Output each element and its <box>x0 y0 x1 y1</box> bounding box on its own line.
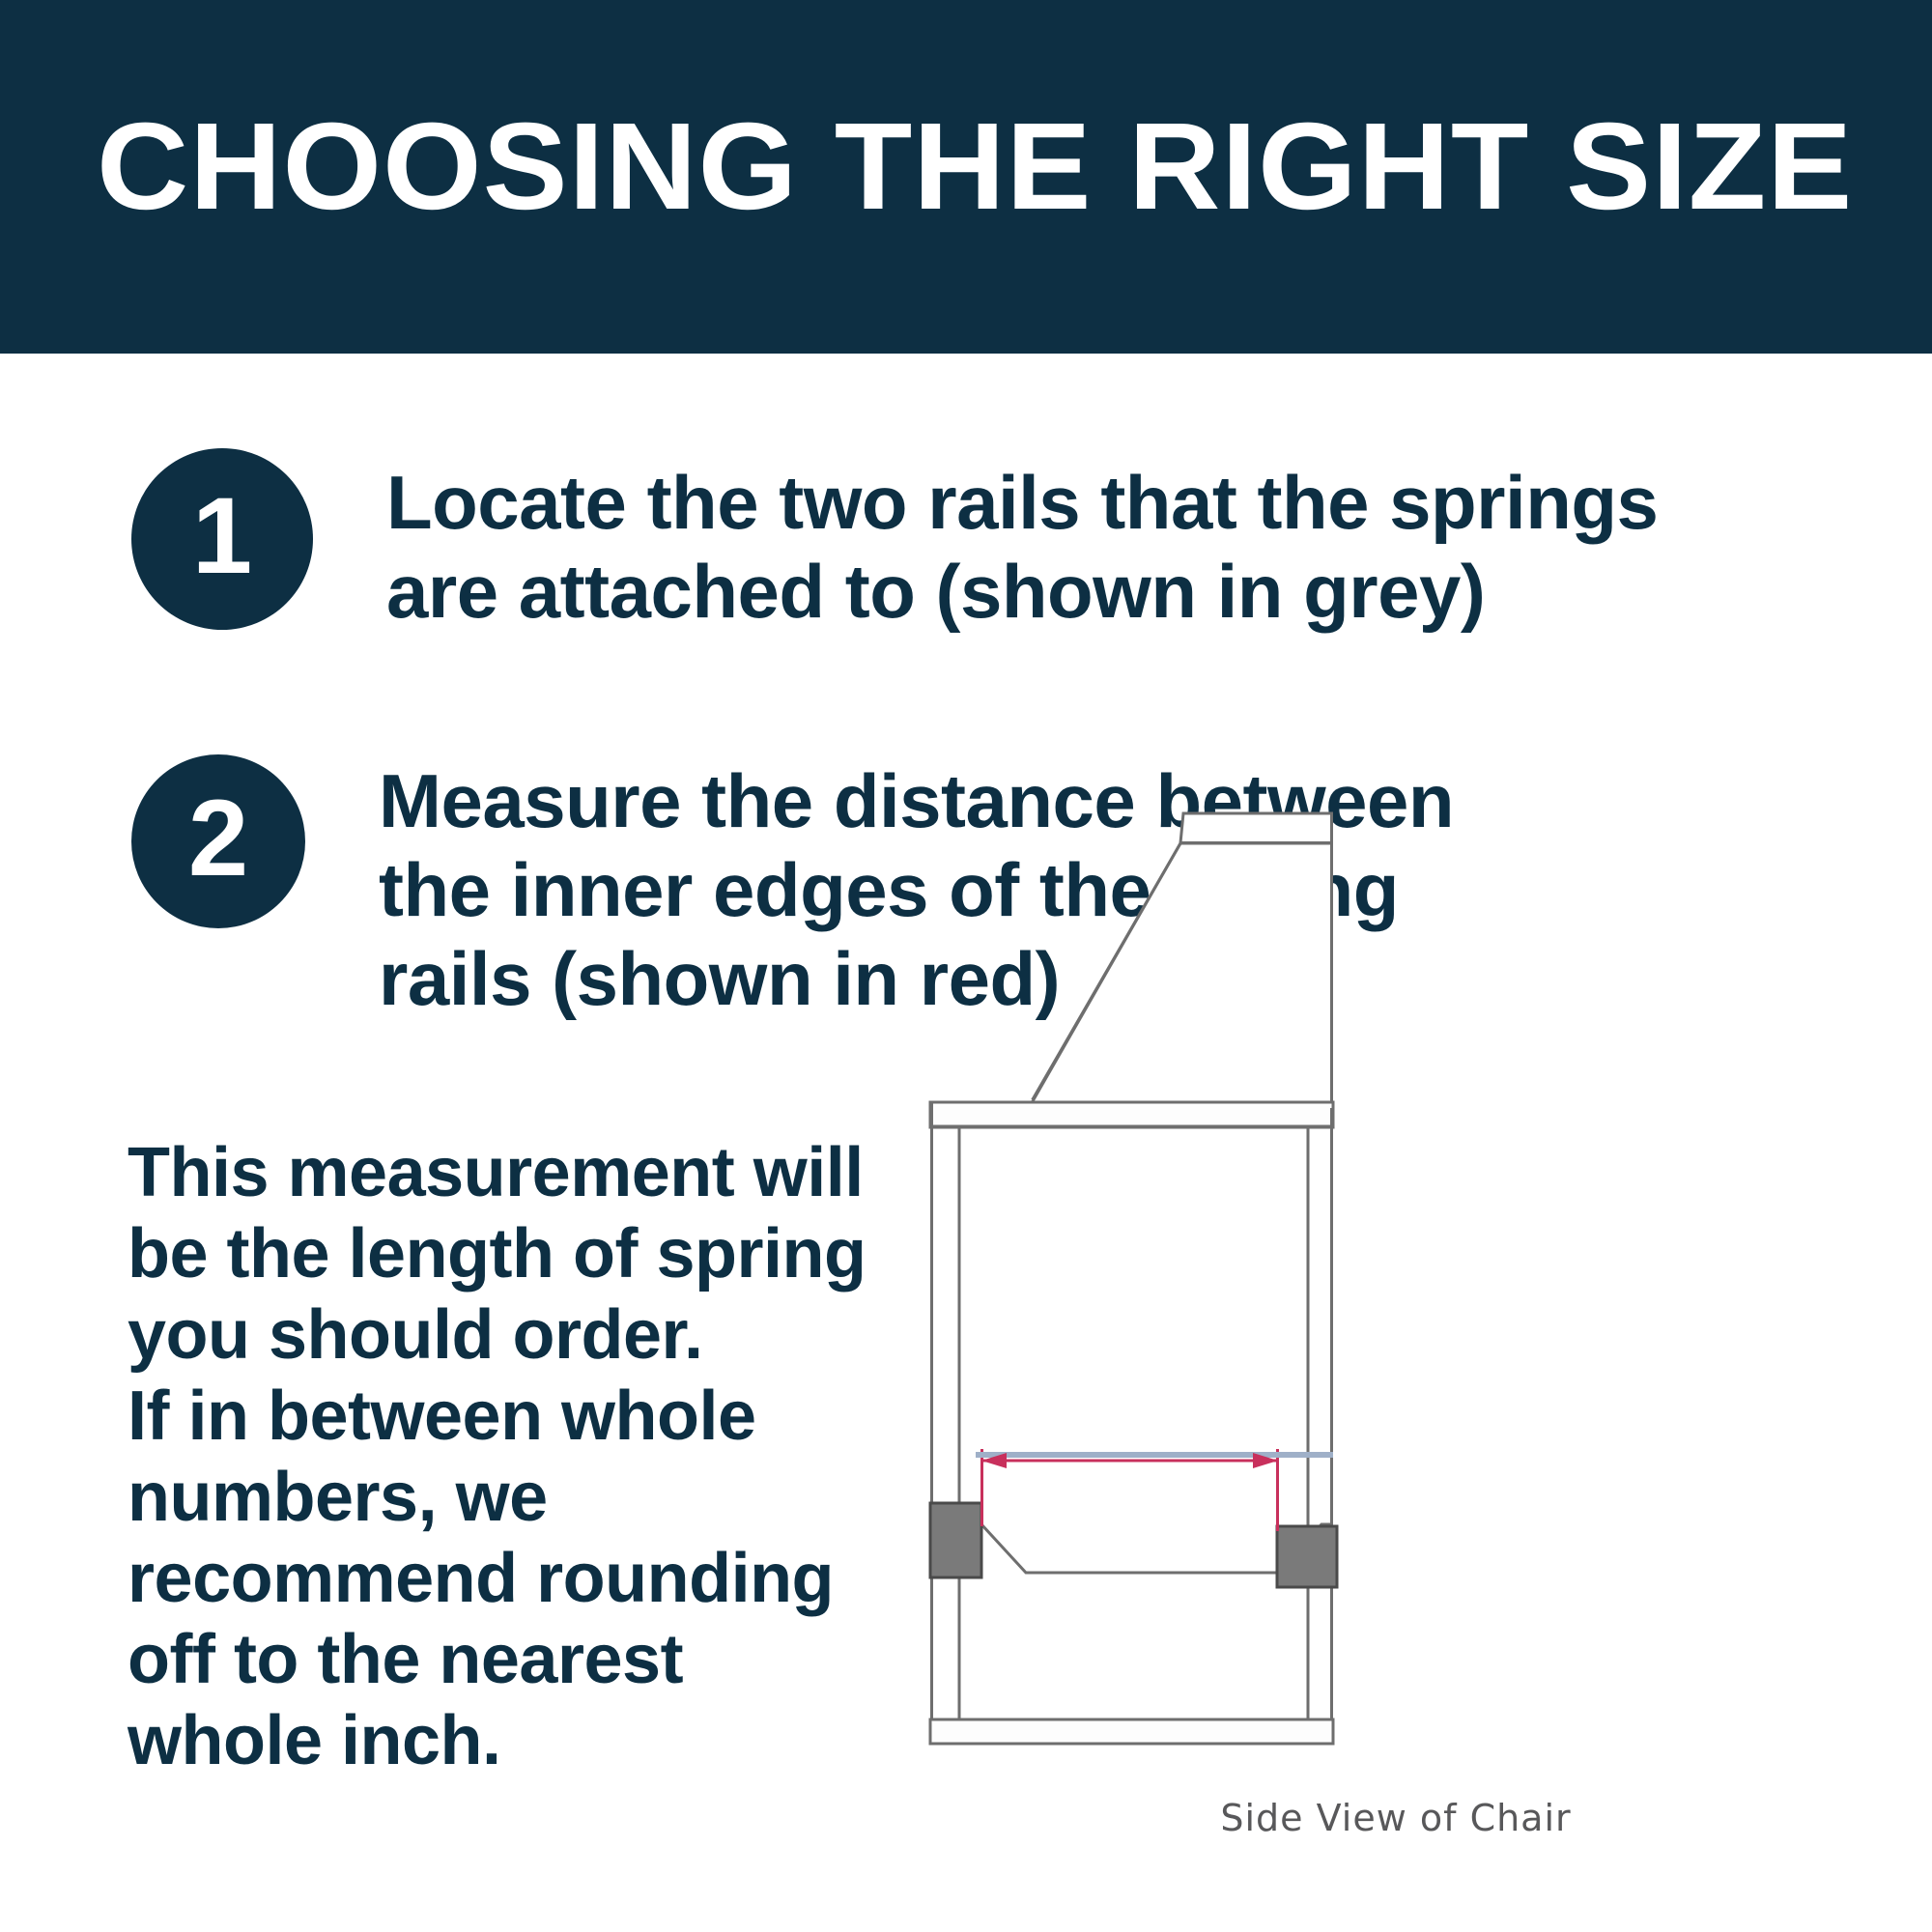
top-arm-rail <box>930 1102 1333 1127</box>
bottom-rail <box>930 1719 1333 1744</box>
page-title: CHOOSING THE RIGHT SIZE <box>97 95 1918 240</box>
chair-side-view-svg <box>918 811 1932 1797</box>
right-spring-rail <box>1277 1526 1337 1587</box>
step-number-badge-1: 1 <box>131 448 313 630</box>
step-item-1: 1 Locate the two rails that the springs … <box>131 448 1658 636</box>
diagram-caption: Side View of Chair <box>918 1797 1874 1839</box>
step-number-badge-2: 2 <box>131 754 305 928</box>
step-text-1: Locate the two rails that the springs ar… <box>386 448 1658 636</box>
seat-deck-profile <box>959 1524 1331 1573</box>
measurement-note-paragraph: This measurement will be the length of s… <box>128 1132 900 1781</box>
left-spring-rail <box>930 1503 981 1577</box>
red-measurement-arrow <box>976 1449 1333 1531</box>
chair-diagram: Side View of Chair <box>918 811 1932 1903</box>
header-band: CHOOSING THE RIGHT SIZE <box>0 0 1932 354</box>
chair-body-outline <box>932 1103 1332 1744</box>
chair-back-outline <box>1027 813 1336 1111</box>
